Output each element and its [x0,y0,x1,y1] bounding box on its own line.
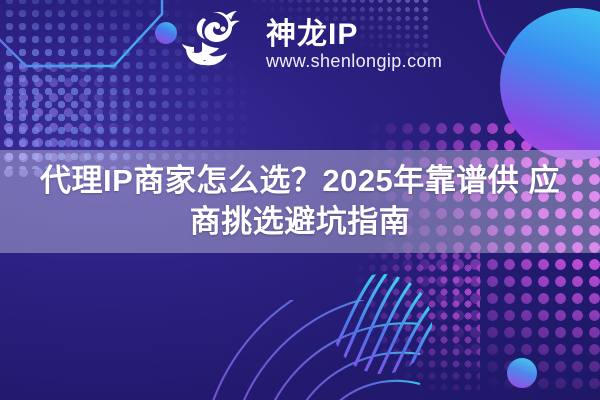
small-gradient-sphere [155,22,177,44]
brand-url: www.shenlongip.com [266,52,442,72]
dragon-head-icon [176,6,254,84]
title-band: 代理IP商家怎么选？2025年靠谱供 应商挑选避坑指南 [0,150,600,253]
brand-name: 神龙IP [266,18,442,51]
brand-logo: 神龙IP www.shenlongip.com [176,6,442,84]
page-title: 代理IP商家怎么选？2025年靠谱供 应商挑选避坑指南 [30,161,570,243]
fingerprint-circle-icon [330,272,434,376]
promo-banner: 神龙IP www.shenlongip.com 代理IP商家怎么选？2025年靠… [0,0,600,400]
title-line-1: 代理IP商家怎么选？2025年靠谱供 [40,163,519,198]
